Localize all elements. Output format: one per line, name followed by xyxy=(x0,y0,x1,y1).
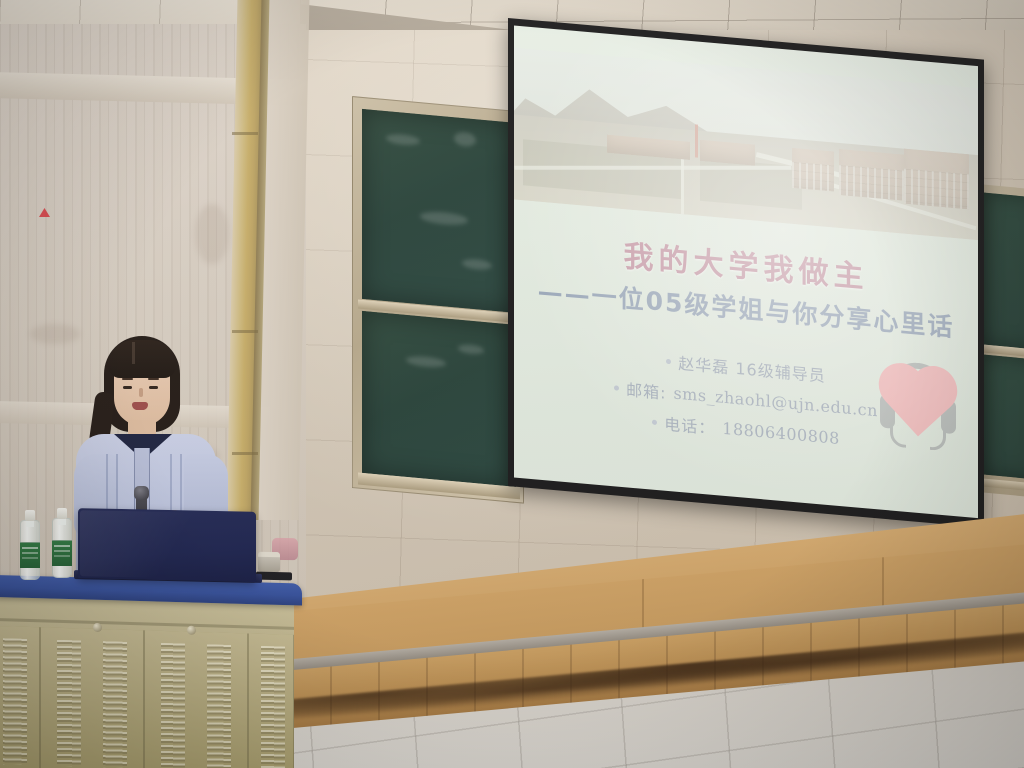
cabinet-louver-vent xyxy=(207,644,231,768)
projection-screen-surface: 我的大学我做主 ——一位05级学姐与你分享心里话 赵华磊 16级辅导员 邮箱: … xyxy=(514,26,978,519)
microphone-head xyxy=(134,486,149,500)
beam-seam xyxy=(232,330,258,333)
laptop-screen-reflection xyxy=(80,510,254,580)
podium-cabinet[interactable] xyxy=(0,592,294,768)
cabinet-louver-vent xyxy=(57,640,81,767)
photo-building xyxy=(792,148,834,191)
beam-seam xyxy=(232,452,258,455)
photo-walkway xyxy=(681,150,684,214)
bottle-neck xyxy=(26,520,34,527)
hair-part xyxy=(132,342,135,364)
beam-seam xyxy=(232,132,258,135)
blackboard-right xyxy=(978,184,1024,498)
slide-phone-label: 电话： xyxy=(664,411,715,439)
photo-flagpole xyxy=(695,124,698,158)
photo-building xyxy=(839,149,904,200)
photo-building xyxy=(904,148,969,208)
headphone-wire-right xyxy=(930,428,946,451)
water-bottle[interactable] xyxy=(52,506,72,578)
blackboard-panel-upper xyxy=(362,109,516,313)
blackboard-panel-lower xyxy=(362,311,516,487)
bullet-icon xyxy=(614,385,619,390)
slide-campus-photo xyxy=(514,48,978,241)
slide-presenter-text: 赵华磊 16级辅导员 xyxy=(678,350,825,387)
blackboard-panel-lower xyxy=(982,354,1024,480)
blackboard-panel-upper xyxy=(982,192,1024,350)
red-triangle-mark-icon xyxy=(39,208,50,217)
lecture-hall-photo: 我的大学我做主 ——一位05级学姐与你分享心里话 赵华磊 16级辅导员 邮箱: … xyxy=(0,0,1024,768)
bullet-icon xyxy=(666,358,671,363)
photo-walkway xyxy=(514,166,792,170)
hair-top xyxy=(108,340,176,378)
cabinet-knob[interactable] xyxy=(93,623,102,632)
slide-phone-value: 18806400808 xyxy=(722,418,839,447)
metal-cup[interactable] xyxy=(258,552,280,572)
mouth-open-speaking xyxy=(132,402,148,410)
cabinet-knob[interactable] xyxy=(187,626,196,635)
cabinet-door-far-left[interactable] xyxy=(0,626,40,768)
bottle-label xyxy=(52,540,72,566)
bottle-cap xyxy=(57,508,67,519)
cabinet-louver-vent xyxy=(161,643,185,768)
eyebrow-left xyxy=(122,378,133,380)
bottle-neck xyxy=(58,518,66,525)
cabinet-door-end[interactable] xyxy=(248,633,294,768)
eye-right xyxy=(149,386,158,389)
water-bottle[interactable] xyxy=(20,508,40,580)
headphone-wire-left xyxy=(890,424,906,447)
cup-rim xyxy=(258,552,280,557)
heart-with-headphones-icon xyxy=(876,357,960,456)
cabinet-door-left[interactable] xyxy=(40,627,144,768)
cabinet-door-right[interactable] xyxy=(144,630,248,768)
bullet-icon xyxy=(652,419,657,424)
blackboard-left xyxy=(352,96,524,504)
cabinet-louver-vent xyxy=(261,646,285,768)
laptop-screen[interactable] xyxy=(78,508,256,582)
bottle-label xyxy=(20,542,40,568)
cabinet-louver-vent xyxy=(103,641,127,768)
wall-stain xyxy=(195,204,229,264)
cabinet-louver-vent xyxy=(3,638,27,765)
bottle-cap xyxy=(25,510,35,521)
projection-screen-frame: 我的大学我做主 ——一位05级学姐与你分享心里话 赵华磊 16级辅导员 邮箱: … xyxy=(508,18,984,528)
eyebrow-right xyxy=(148,378,159,380)
slide-email-label: 邮箱: xyxy=(626,376,666,404)
nose xyxy=(139,388,143,397)
eye-left xyxy=(123,386,132,389)
